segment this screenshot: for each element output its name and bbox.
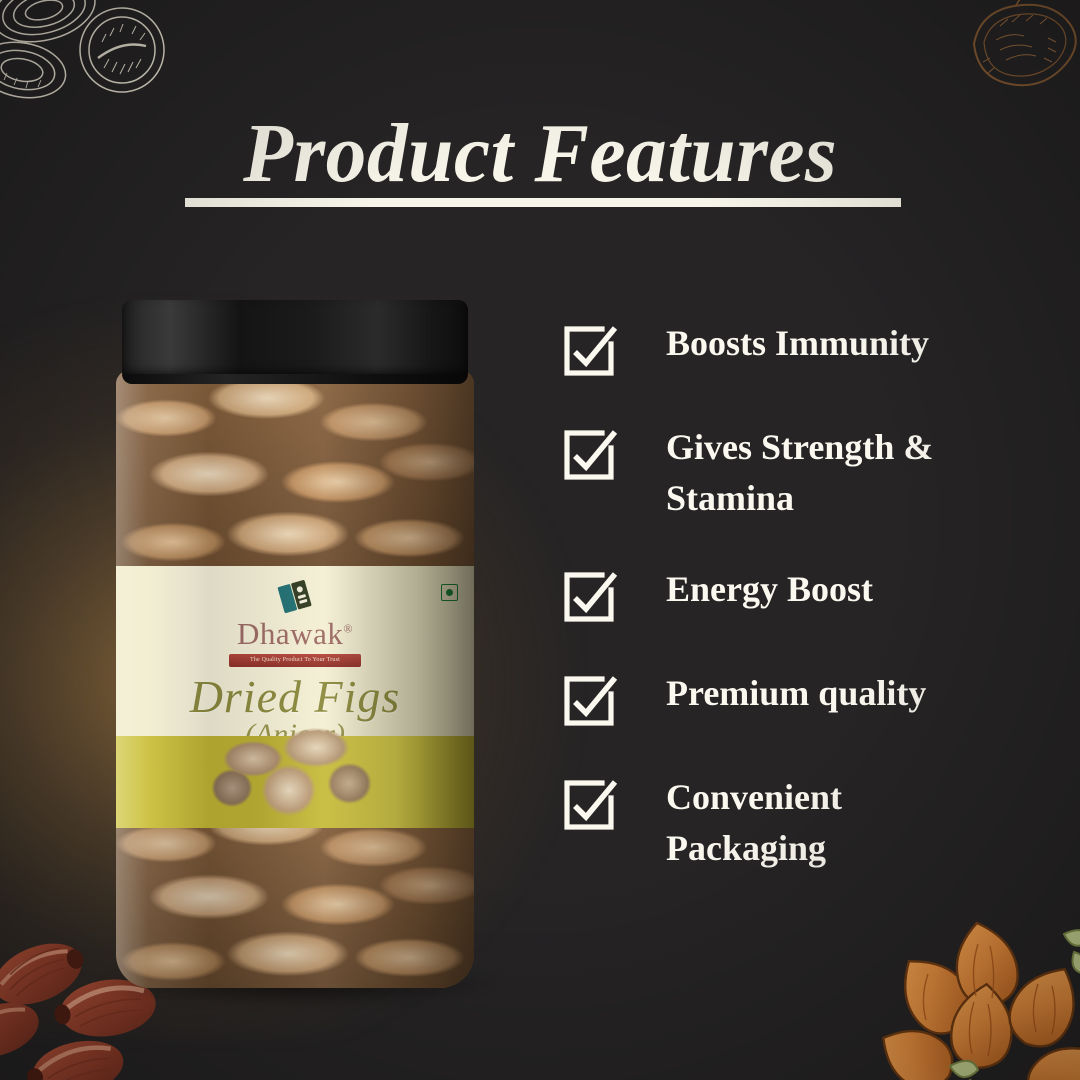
feature-item: Energy Boost bbox=[560, 564, 1030, 626]
check-square-icon bbox=[560, 672, 618, 730]
page-title-text: Product Features bbox=[243, 112, 837, 196]
fig-line-art-icon bbox=[0, 0, 196, 114]
check-square-icon bbox=[560, 568, 618, 626]
brand-tagline: The Quality Product To Your Trust bbox=[229, 654, 361, 667]
registered-mark: ® bbox=[343, 622, 353, 636]
jar-label: Dhawak® The Quality Product To Your Trus… bbox=[116, 566, 474, 828]
feature-label: Convenient Packaging bbox=[666, 772, 996, 874]
feature-label: Energy Boost bbox=[666, 564, 873, 615]
feature-list: Boosts Immunity Gives Strength & Stamina… bbox=[560, 318, 1030, 914]
product-features-infographic: Product Features bbox=[0, 0, 1080, 1080]
feature-item: Convenient Packaging bbox=[560, 772, 1030, 874]
check-square-icon bbox=[560, 322, 618, 380]
feature-item: Gives Strength & Stamina bbox=[560, 422, 1030, 524]
page-title: Product Features bbox=[0, 112, 1080, 196]
brand-name-text: Dhawak bbox=[237, 616, 343, 651]
label-figs-photo bbox=[190, 714, 400, 826]
almonds-illustration-icon bbox=[878, 900, 1080, 1080]
feature-label: Gives Strength & Stamina bbox=[666, 422, 996, 524]
feature-label: Boosts Immunity bbox=[666, 318, 929, 369]
label-upper-section: Dhawak® The Quality Product To Your Trus… bbox=[116, 566, 474, 716]
feature-item: Premium quality bbox=[560, 668, 1030, 730]
feature-label: Premium quality bbox=[666, 668, 926, 719]
check-square-icon bbox=[560, 426, 618, 484]
dhawak-logo-icon bbox=[276, 580, 314, 616]
feature-item: Boosts Immunity bbox=[560, 318, 1030, 380]
figs-contents-top bbox=[116, 370, 474, 570]
vegetarian-mark-icon bbox=[441, 584, 458, 601]
jar-body: Dhawak® The Quality Product To Your Trus… bbox=[116, 370, 474, 988]
check-square-icon bbox=[560, 776, 618, 834]
fig-engraving-icon bbox=[956, 0, 1080, 100]
brand-name: Dhawak® bbox=[116, 616, 474, 652]
label-photo-band bbox=[116, 736, 474, 828]
jar-lid bbox=[122, 300, 468, 378]
title-underline bbox=[185, 198, 901, 207]
product-jar: Dhawak® The Quality Product To Your Trus… bbox=[116, 300, 474, 990]
